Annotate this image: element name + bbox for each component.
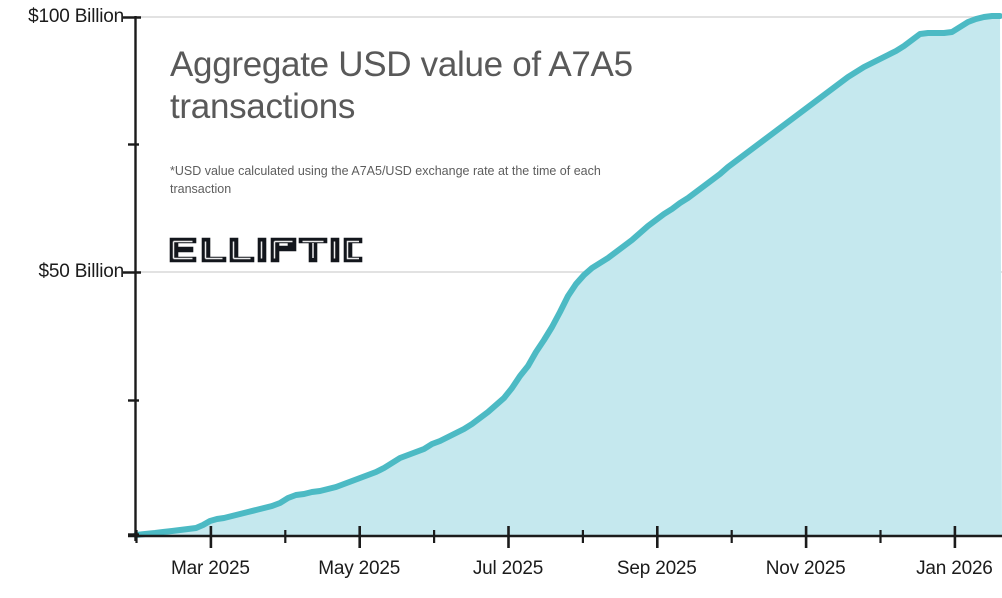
chart-footnote: *USD value calculated using the A7A5/USD…	[170, 163, 650, 199]
y-axis-label-50b: $50 Billion	[39, 261, 124, 283]
elliptic-wordmark-icon	[168, 234, 364, 266]
x-axis-label-2: Jul 2025	[473, 558, 543, 580]
title-block: Aggregate USD value of A7A5 transactions	[170, 44, 640, 129]
x-axis-label-0: Mar 2025	[171, 558, 250, 580]
y-axis-label-100b: $100 Billion	[28, 6, 124, 28]
x-axis-label-5: Jan 2026	[916, 558, 993, 580]
x-axis-label-1: May 2025	[318, 558, 400, 580]
chart-title: Aggregate USD value of A7A5 transactions	[170, 44, 640, 129]
x-axis-label-4: Nov 2025	[766, 558, 846, 580]
y-axis-ticks	[123, 18, 141, 535]
elliptic-logo	[168, 234, 364, 266]
chart-container: $100 Billion $50 Billion Mar 2025May 202…	[0, 0, 1002, 598]
x-axis-label-3: Sep 2025	[617, 558, 697, 580]
